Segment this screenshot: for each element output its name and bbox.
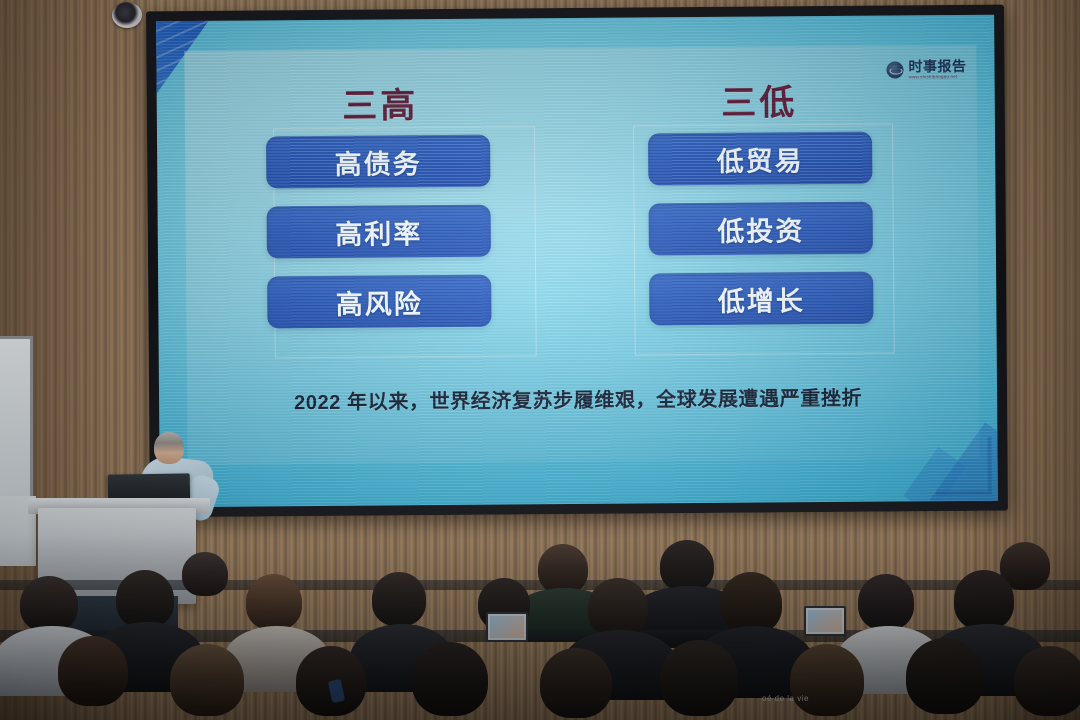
pill-label: 低增长 — [718, 279, 805, 319]
audience-head — [906, 638, 984, 714]
pill-label: 高利率 — [335, 212, 422, 252]
slide-headers: 三高 三低 — [157, 73, 995, 131]
audience-laptop — [804, 606, 846, 636]
presenter-head — [154, 432, 184, 464]
display-screen-bezel: 时事报告 www.shishibaogao.net 三高 三低 高债务 — [146, 5, 1008, 518]
pill-low-trade: 低贸易 — [648, 132, 872, 186]
audience-head — [858, 574, 914, 630]
pill-high-risk: 高风险 — [267, 275, 491, 329]
audience-head — [170, 644, 244, 716]
audience: oé de la vie — [0, 534, 1080, 720]
audience-head — [720, 572, 782, 634]
audience-head — [1014, 646, 1080, 716]
audience-head — [372, 572, 426, 626]
audience-head — [20, 576, 78, 632]
slide-columns: 高债务 高利率 高风险 低贸易 低投资 — [157, 131, 996, 330]
audience-head — [790, 644, 864, 716]
audience-shirt-text: oé de la vie — [762, 694, 809, 703]
pill-high-interest: 高利率 — [267, 205, 491, 259]
audience-head — [182, 552, 228, 596]
pill-label: 低投资 — [717, 209, 804, 249]
dome-camera-icon — [112, 2, 142, 28]
audience-head — [116, 570, 174, 628]
column-san-di: 低贸易 低投资 低增长 — [569, 131, 952, 326]
audience-head — [660, 640, 738, 716]
lecture-hall-photo: 时事报告 www.shishibaogao.net 三高 三低 高债务 — [0, 0, 1080, 720]
audience-head — [954, 570, 1014, 630]
audience-head — [246, 574, 302, 630]
audience-head — [412, 642, 488, 716]
audience-head — [58, 636, 128, 706]
audience-head — [540, 648, 612, 718]
whiteboard — [0, 336, 33, 502]
audience-laptop — [486, 612, 528, 642]
brand-name: 时事报告 — [908, 59, 966, 73]
pill-label: 高风险 — [336, 282, 423, 322]
pill-high-debt: 高债务 — [266, 135, 490, 189]
audience-head — [538, 544, 588, 594]
column-header-san-gao: 三高 — [191, 76, 570, 130]
pill-label: 低贸易 — [717, 139, 804, 179]
pill-low-growth: 低增长 — [649, 272, 873, 326]
column-san-gao: 高债务 高利率 高风险 — [187, 134, 570, 329]
column-header-san-di: 三低 — [570, 73, 949, 127]
pill-low-investment: 低投资 — [649, 202, 873, 256]
pill-label: 高债务 — [335, 142, 422, 182]
audience-head — [660, 540, 714, 592]
presentation-slide: 时事报告 www.shishibaogao.net 三高 三低 高债务 — [156, 15, 998, 508]
audience-head — [588, 578, 648, 638]
